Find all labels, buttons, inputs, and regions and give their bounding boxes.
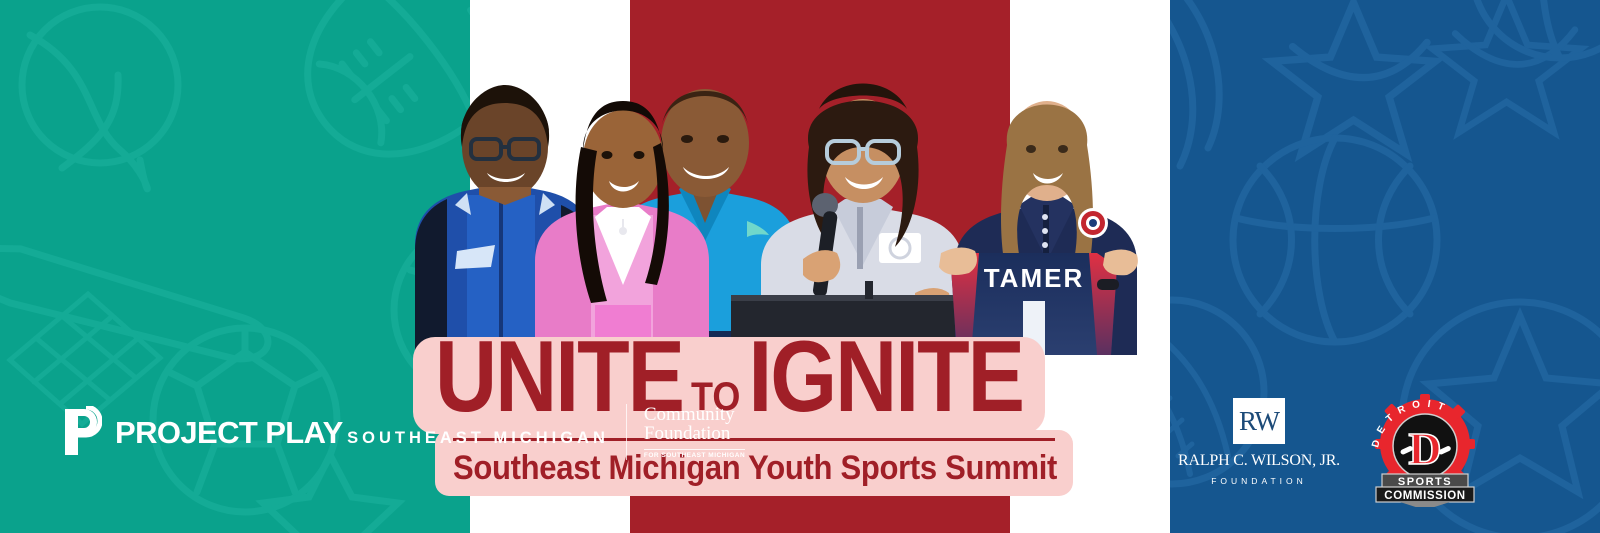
detroit-d-letter: D (1408, 423, 1441, 474)
commission-band-text: COMMISSION (1384, 490, 1465, 502)
project-play-wordmark: PROJECT PLAY SOUTHEAST MICHIGAN (115, 417, 609, 448)
community-foundation-line2: Foundation (644, 424, 745, 443)
event-banner: TAMER UNITE TO IGNITE Southeast Mi (0, 0, 1600, 533)
project-play-line1: PROJECT PLAY (115, 415, 343, 450)
community-foundation-line3: FOR SOUTHEAST MICHIGAN (644, 449, 745, 460)
detroit-sports-commission-logo: DETROIT D SPORTS COMMISSION (1360, 392, 1490, 507)
sports-band-text: SPORTS (1398, 476, 1452, 488)
person-5: TAMER (939, 101, 1138, 355)
community-foundation-line1: Community (644, 405, 745, 424)
community-foundation-logo: Community Foundation FOR SOUTHEAST MICHI… (644, 405, 745, 459)
rw-monogram-text: RW (1239, 408, 1279, 435)
logo-divider (626, 404, 627, 460)
project-play-line2: SOUTHEAST MICHIGAN (347, 429, 609, 447)
press-conference-photo: TAMER (395, 55, 1155, 355)
ralph-wilson-foundation-logo: RW RALPH C. WILSON, JR. FOUNDATION (1174, 398, 1344, 486)
ralph-wilson-name: RALPH C. WILSON, JR. (1174, 452, 1344, 470)
double-p-monogram-icon (62, 406, 102, 458)
project-play-logo: PROJECT PLAY SOUTHEAST MICHIGAN Communit… (62, 404, 745, 460)
sports-commission-banner: SPORTS COMMISSION (1376, 474, 1474, 507)
title-word-ignite: IGNITE (748, 331, 1023, 424)
svg-text:TAMER: TAMER (984, 263, 1085, 293)
ralph-wilson-sub: FOUNDATION (1174, 476, 1344, 486)
rw-monogram-icon: RW (1233, 398, 1285, 444)
